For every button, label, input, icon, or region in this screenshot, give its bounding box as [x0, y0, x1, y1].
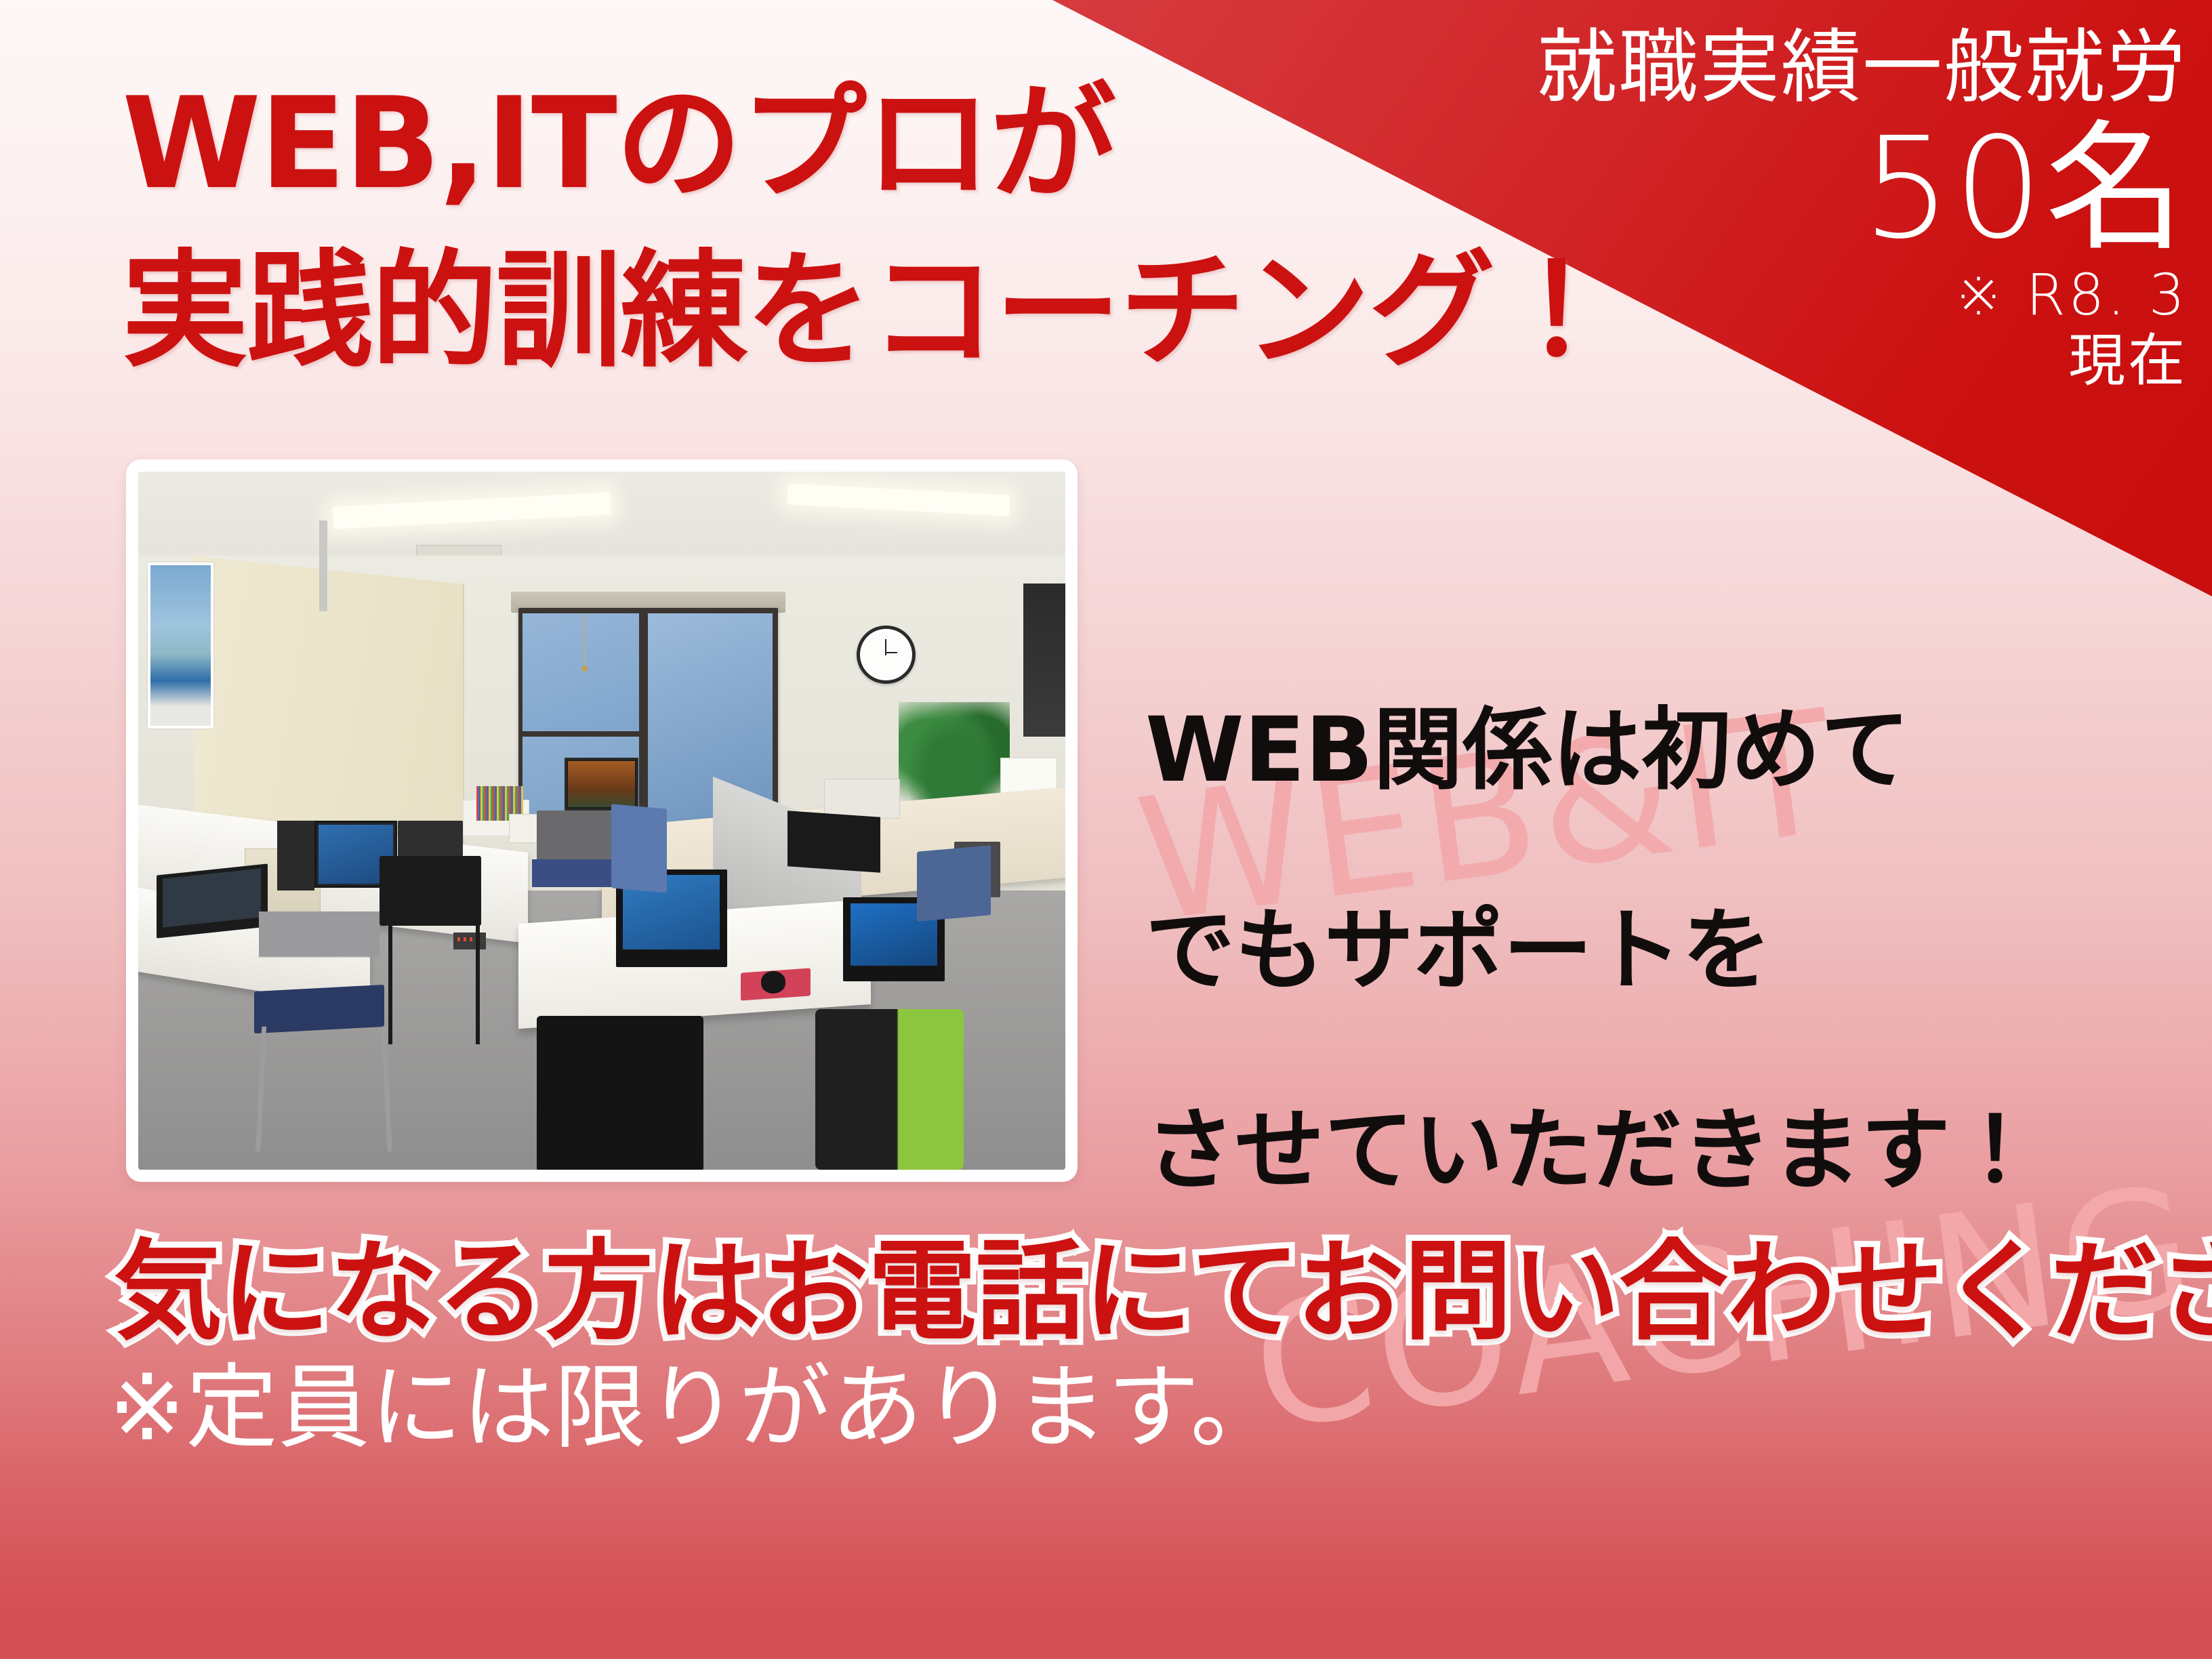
wall-poster	[148, 562, 213, 729]
training-room-photo	[138, 472, 1065, 1170]
ceiling	[138, 472, 1065, 569]
right-window	[1023, 583, 1065, 737]
employment-record-banner: 就職実績一般就労 50名 ※ R8. 3 現在	[1354, 20, 2188, 394]
desktop-tower	[277, 821, 314, 890]
blind-cord	[583, 615, 585, 665]
chair-back-center-seat	[532, 859, 615, 887]
mouse	[761, 971, 785, 994]
photo-frame	[126, 459, 1078, 1182]
chair-black-left-legs	[388, 918, 480, 1044]
window-pane-upper-left	[523, 613, 639, 731]
cta-main-text: 気になる方はお電話にてお問い合わせください。	[114, 1237, 2188, 1346]
cta-note-text: ※定員には限りがあります。	[108, 1362, 2182, 1454]
chair-back-center	[537, 811, 611, 866]
folding-chair-front-legs	[255, 1026, 392, 1151]
monitor-screen	[568, 761, 635, 807]
blind-cord-ball	[581, 665, 588, 672]
wall-clock-icon	[857, 626, 916, 684]
banner-note-date: ※ R8. 3	[1354, 262, 2188, 328]
body-line-2: でもサポートを	[1145, 851, 2189, 1052]
chair-black-left	[380, 856, 481, 926]
body-copy: WEB関係は初めて でもサポートを させていただきます！	[1145, 651, 2189, 1252]
chair-blue-far-right	[917, 845, 991, 922]
poster-root: WEB&IT COACHING WEB,ITのプロが 実践的訓練をコーチング！ …	[0, 0, 2212, 1659]
body-line-1: WEB関係は初めて	[1145, 651, 2189, 851]
banner-count: 50名	[1354, 117, 2188, 260]
chair-blue-right	[611, 804, 667, 893]
desktop-monitor	[565, 758, 638, 811]
banner-title: 就職実績一般就労	[1354, 20, 2188, 115]
body-line-3: させていただきます！	[1145, 1051, 2189, 1252]
stereo-unit	[824, 779, 899, 819]
laptop-back-right	[787, 811, 880, 873]
support-pole	[319, 520, 327, 611]
banner-note-current: 現在	[1354, 328, 2188, 394]
wall-poster-image	[150, 565, 211, 726]
chair-black-front	[537, 1016, 703, 1170]
chair-green	[815, 1009, 964, 1170]
